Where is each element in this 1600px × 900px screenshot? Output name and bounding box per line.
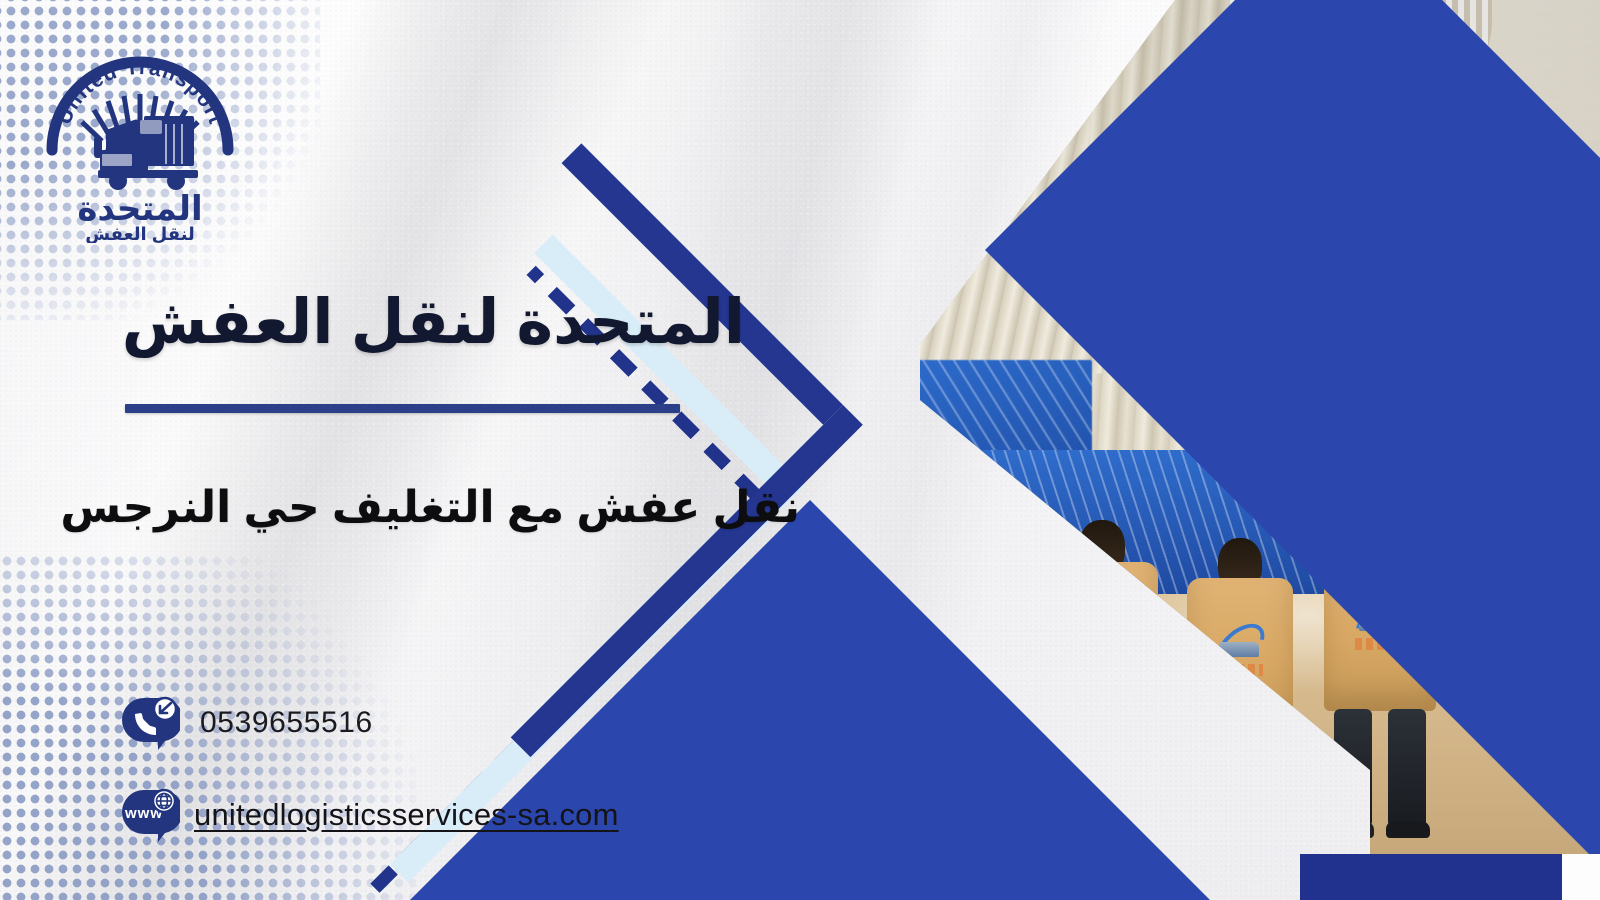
website-url[interactable]: unitedlogisticsservices-sa.com	[194, 797, 619, 833]
contact-block: 0539655516 www unitedlogisticsse	[118, 694, 738, 878]
globe-www-icon: www	[118, 786, 180, 844]
promo-banner: United Transport	[0, 0, 1600, 900]
contact-row-phone[interactable]: 0539655516	[118, 694, 738, 752]
page-title: المتحدة لنقل العفش	[0, 288, 745, 357]
page-subtitle: نقل عفش مع التغليف حي النرجس	[0, 482, 800, 535]
phone-call-icon	[118, 694, 180, 752]
title-underline-rule	[125, 404, 680, 413]
phone-number[interactable]: 0539655516	[200, 706, 373, 740]
logo-arabic-sub: لنقل العفش	[85, 224, 195, 243]
company-logo[interactable]: United Transport	[40, 38, 240, 243]
bottom-right-white-notch	[1562, 854, 1600, 900]
logo-arabic-main: المتحدة	[77, 190, 202, 228]
bottom-navy-strip	[1300, 854, 1562, 900]
contact-row-website[interactable]: www unitedlogisticsservices-sa.com	[118, 786, 738, 844]
